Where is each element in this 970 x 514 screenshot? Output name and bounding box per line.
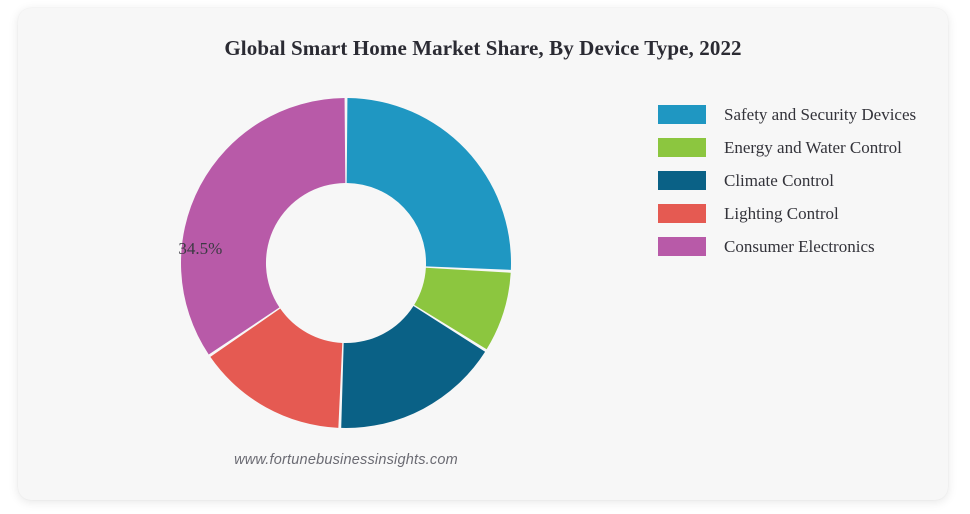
chart-card: Global Smart Home Market Share, By Devic… bbox=[18, 8, 948, 500]
source-watermark: www.fortunebusinessinsights.com bbox=[163, 452, 529, 468]
legend-item-label: Energy and Water Control bbox=[724, 139, 902, 156]
legend-swatch-icon bbox=[658, 237, 706, 256]
legend-item[interactable]: Safety and Security Devices bbox=[658, 98, 948, 131]
legend-item-label: Climate Control bbox=[724, 172, 834, 189]
legend-item[interactable]: Lighting Control bbox=[658, 197, 948, 230]
legend-item-label: Consumer Electronics bbox=[724, 238, 875, 255]
donut-slice[interactable] bbox=[347, 98, 511, 270]
donut-slice[interactable] bbox=[181, 98, 345, 355]
legend-swatch-icon bbox=[658, 171, 706, 190]
legend-item[interactable]: Energy and Water Control bbox=[658, 131, 948, 164]
legend-item[interactable]: Consumer Electronics bbox=[658, 230, 948, 263]
chart-screenshot: Global Smart Home Market Share, By Devic… bbox=[0, 0, 970, 514]
page-title: Global Smart Home Market Share, By Devic… bbox=[18, 36, 948, 61]
legend-swatch-icon bbox=[658, 138, 706, 157]
donut-slice-group bbox=[181, 98, 511, 428]
legend-swatch-icon bbox=[658, 204, 706, 223]
legend-swatch-icon bbox=[658, 105, 706, 124]
legend-item-label: Lighting Control bbox=[724, 205, 839, 222]
legend-item[interactable]: Climate Control bbox=[658, 164, 948, 197]
donut-chart-svg: 34.5% bbox=[163, 80, 529, 446]
chart-legend: Safety and Security Devices Energy and W… bbox=[658, 98, 948, 263]
slice-data-label: 34.5% bbox=[178, 239, 222, 258]
legend-item-label: Safety and Security Devices bbox=[724, 106, 916, 123]
donut-chart: 34.5% bbox=[163, 80, 529, 446]
